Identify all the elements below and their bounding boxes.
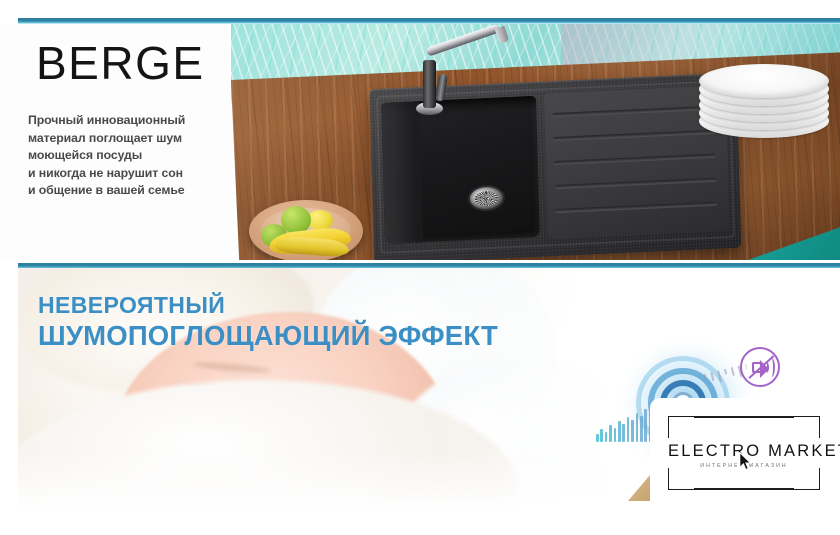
sink-basin (381, 96, 540, 244)
soundwave-bar (627, 417, 630, 442)
soundwave-bar (640, 416, 643, 442)
soundwave-tick (717, 370, 722, 382)
frame-corner (668, 468, 696, 490)
brand-copy-line: моющейся посуды (28, 147, 228, 165)
soundwave-tick (704, 374, 708, 380)
headline-line-1: НЕВЕРОЯТНЫЙ (38, 292, 498, 319)
soundwave-bar (596, 434, 599, 442)
basin-side-wall (381, 101, 423, 244)
soundwave-bar (609, 425, 612, 442)
soundwave-bar (605, 432, 608, 442)
fruit-bowl (249, 200, 363, 260)
headline-line-2: ШУМОПОГЛОЩАЮЩИЙ ЭФФЕКТ (38, 319, 498, 352)
berge-logo: BERGE (36, 40, 205, 86)
kitchen-sink-photo (231, 24, 840, 260)
brand-copy-line: и никогда не нарушит сон (28, 165, 228, 183)
advertisement-page: BERGE Прочный инновационный материал пог… (0, 0, 840, 535)
soundwave-bar (644, 409, 647, 442)
frame-bottom-line (694, 488, 794, 490)
soundwave-tick (710, 372, 714, 381)
frame-corner (792, 416, 820, 438)
photo-fade-bottom (18, 450, 628, 520)
soundwave-bar (631, 420, 634, 442)
drainboard-groove (553, 130, 715, 141)
frame-corner (792, 468, 820, 490)
frame-top-line (694, 416, 794, 418)
brand-copy-line: Прочный инновационный (28, 112, 228, 130)
soundwave-bar (622, 424, 625, 442)
drainboard-groove (552, 106, 714, 117)
top-banner: BERGE Прочный инновационный материал пог… (0, 0, 840, 260)
frame-corner (668, 416, 696, 438)
bottom-banner: НЕВЕРОЯТНЫЙ ШУМОПОГЛОЩАЮЩИЙ ЭФФЕКТ (0, 268, 840, 535)
brand-text-block: BERGE Прочный инновационный материал пог… (0, 24, 231, 260)
soundwave-bar (600, 429, 603, 442)
brand-copy-line: материал поглощает шум (28, 130, 228, 148)
arrow-pointer-icon (739, 452, 752, 471)
brand-description: Прочный инновационный материал поглощает… (28, 112, 228, 200)
plate-stack (699, 64, 829, 138)
drainboard-groove (554, 154, 716, 165)
plate (699, 64, 829, 98)
soundwave-tick (731, 367, 735, 376)
brand-copy-line: и общение в вашей семье (28, 182, 228, 200)
headline: НЕВЕРОЯТНЫЙ ШУМОПОГЛОЩАЮЩИЙ ЭФФЕКТ (38, 292, 498, 352)
mouse-cursor (739, 452, 752, 471)
drainboard-groove (555, 202, 717, 213)
soundwave-bar (614, 428, 617, 442)
drainboard-groove (554, 178, 716, 189)
soundwave-bar (636, 413, 639, 442)
soundwave-tick (724, 369, 728, 375)
middle-divider-rule (18, 263, 840, 268)
faucet-body (423, 60, 436, 108)
no-sound-icon (740, 347, 780, 387)
soundwave-bar (618, 421, 621, 442)
